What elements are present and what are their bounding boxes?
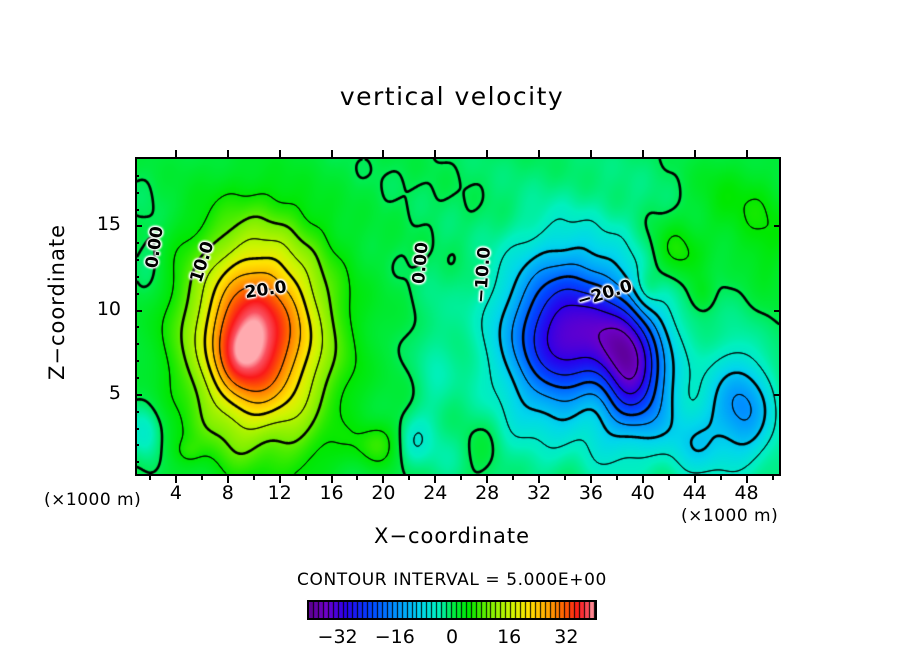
colorbar [307, 600, 597, 620]
y-axis-tick [135, 225, 142, 227]
y-axis-minor-tick [135, 293, 139, 295]
x-axis-tick-label: 48 [722, 482, 772, 504]
x-axis-minor-tick [253, 476, 255, 480]
contour-interval-text: CONTOUR INTERVAL = 5.000E+00 [0, 570, 904, 590]
y-axis-minor-tick [135, 377, 139, 379]
contour-plot-area [135, 157, 781, 476]
x-axis-minor-tick [720, 476, 722, 480]
x-axis-tick-top [694, 150, 696, 157]
colorbar-tick-label: 16 [481, 626, 537, 648]
y-axis-tick [135, 394, 142, 396]
x-axis-tick-label: 28 [462, 482, 512, 504]
x-axis-units: (×1000 m) [681, 506, 778, 526]
colorbar-tick-label: −16 [367, 626, 423, 648]
y-axis-minor-tick [135, 276, 139, 278]
x-axis-minor-tick [616, 476, 618, 480]
colorbar-tick-label: 0 [424, 626, 480, 648]
x-axis-tick-top [279, 150, 281, 157]
y-axis-minor-tick [135, 411, 139, 413]
x-axis-tick-label: 40 [618, 482, 668, 504]
y-axis-minor-tick [135, 209, 139, 211]
y-axis-minor-tick [135, 242, 139, 244]
x-axis-minor-tick [668, 476, 670, 480]
y-axis-tick-label: 5 [85, 382, 121, 404]
x-axis-tick-label: 20 [358, 482, 408, 504]
x-axis-tick-label: 12 [255, 482, 305, 504]
x-axis-tick-label: 36 [566, 482, 616, 504]
colorbar-tick-label: 32 [538, 626, 594, 648]
y-axis-minor-tick [135, 175, 139, 177]
x-axis-tick-label: 4 [151, 482, 201, 504]
y-axis-minor-tick [135, 259, 139, 261]
x-axis-tick-top [746, 150, 748, 157]
y-axis-tick-right [774, 310, 781, 312]
x-axis-tick-top [382, 150, 384, 157]
x-axis-tick-label: 8 [203, 482, 253, 504]
x-axis-minor-tick [305, 476, 307, 480]
x-axis-tick-top [227, 150, 229, 157]
x-axis-tick-label: 44 [670, 482, 720, 504]
x-axis-minor-tick [201, 476, 203, 480]
y-axis-minor-tick [135, 461, 139, 463]
y-axis-units: (×1000 m) [44, 490, 141, 510]
y-axis-minor-tick [135, 192, 139, 194]
x-axis-tick-label: 16 [307, 482, 357, 504]
y-axis-minor-tick [135, 343, 139, 345]
colorbar-tick-label: −32 [310, 626, 366, 648]
x-axis-tick-label: 32 [514, 482, 564, 504]
x-axis-tick-top [331, 150, 333, 157]
colorbar-canvas [309, 602, 595, 618]
x-axis-title: X−coordinate [0, 524, 904, 548]
x-axis-minor-tick [408, 476, 410, 480]
contour-label: −10.0 [471, 246, 495, 303]
y-axis-minor-tick [135, 444, 139, 446]
y-axis-tick-label: 15 [85, 213, 121, 235]
x-axis-tick-top [538, 150, 540, 157]
y-axis-minor-tick [135, 326, 139, 328]
x-axis-minor-tick [564, 476, 566, 480]
x-axis-minor-tick [772, 476, 774, 480]
y-axis-tick-right [774, 394, 781, 396]
x-axis-tick-top [642, 150, 644, 157]
x-axis-tick-top [175, 150, 177, 157]
y-axis-tick-right [774, 225, 781, 227]
y-axis-tick-label: 10 [85, 298, 121, 320]
x-axis-minor-tick [512, 476, 514, 480]
page-title: vertical velocity [0, 82, 904, 111]
x-axis-tick-top [590, 150, 592, 157]
x-axis-minor-tick [356, 476, 358, 480]
x-axis-minor-tick [149, 476, 151, 480]
y-axis-minor-tick [135, 428, 139, 430]
x-axis-tick-label: 24 [410, 482, 460, 504]
contour-field-canvas [137, 159, 779, 474]
x-axis-minor-tick [460, 476, 462, 480]
contour-label: 0.00 [409, 241, 433, 285]
y-axis-tick [135, 310, 142, 312]
y-axis-title: Z−coordinate [45, 182, 69, 422]
y-axis-minor-tick [135, 360, 139, 362]
x-axis-tick-top [434, 150, 436, 157]
x-axis-tick-top [486, 150, 488, 157]
